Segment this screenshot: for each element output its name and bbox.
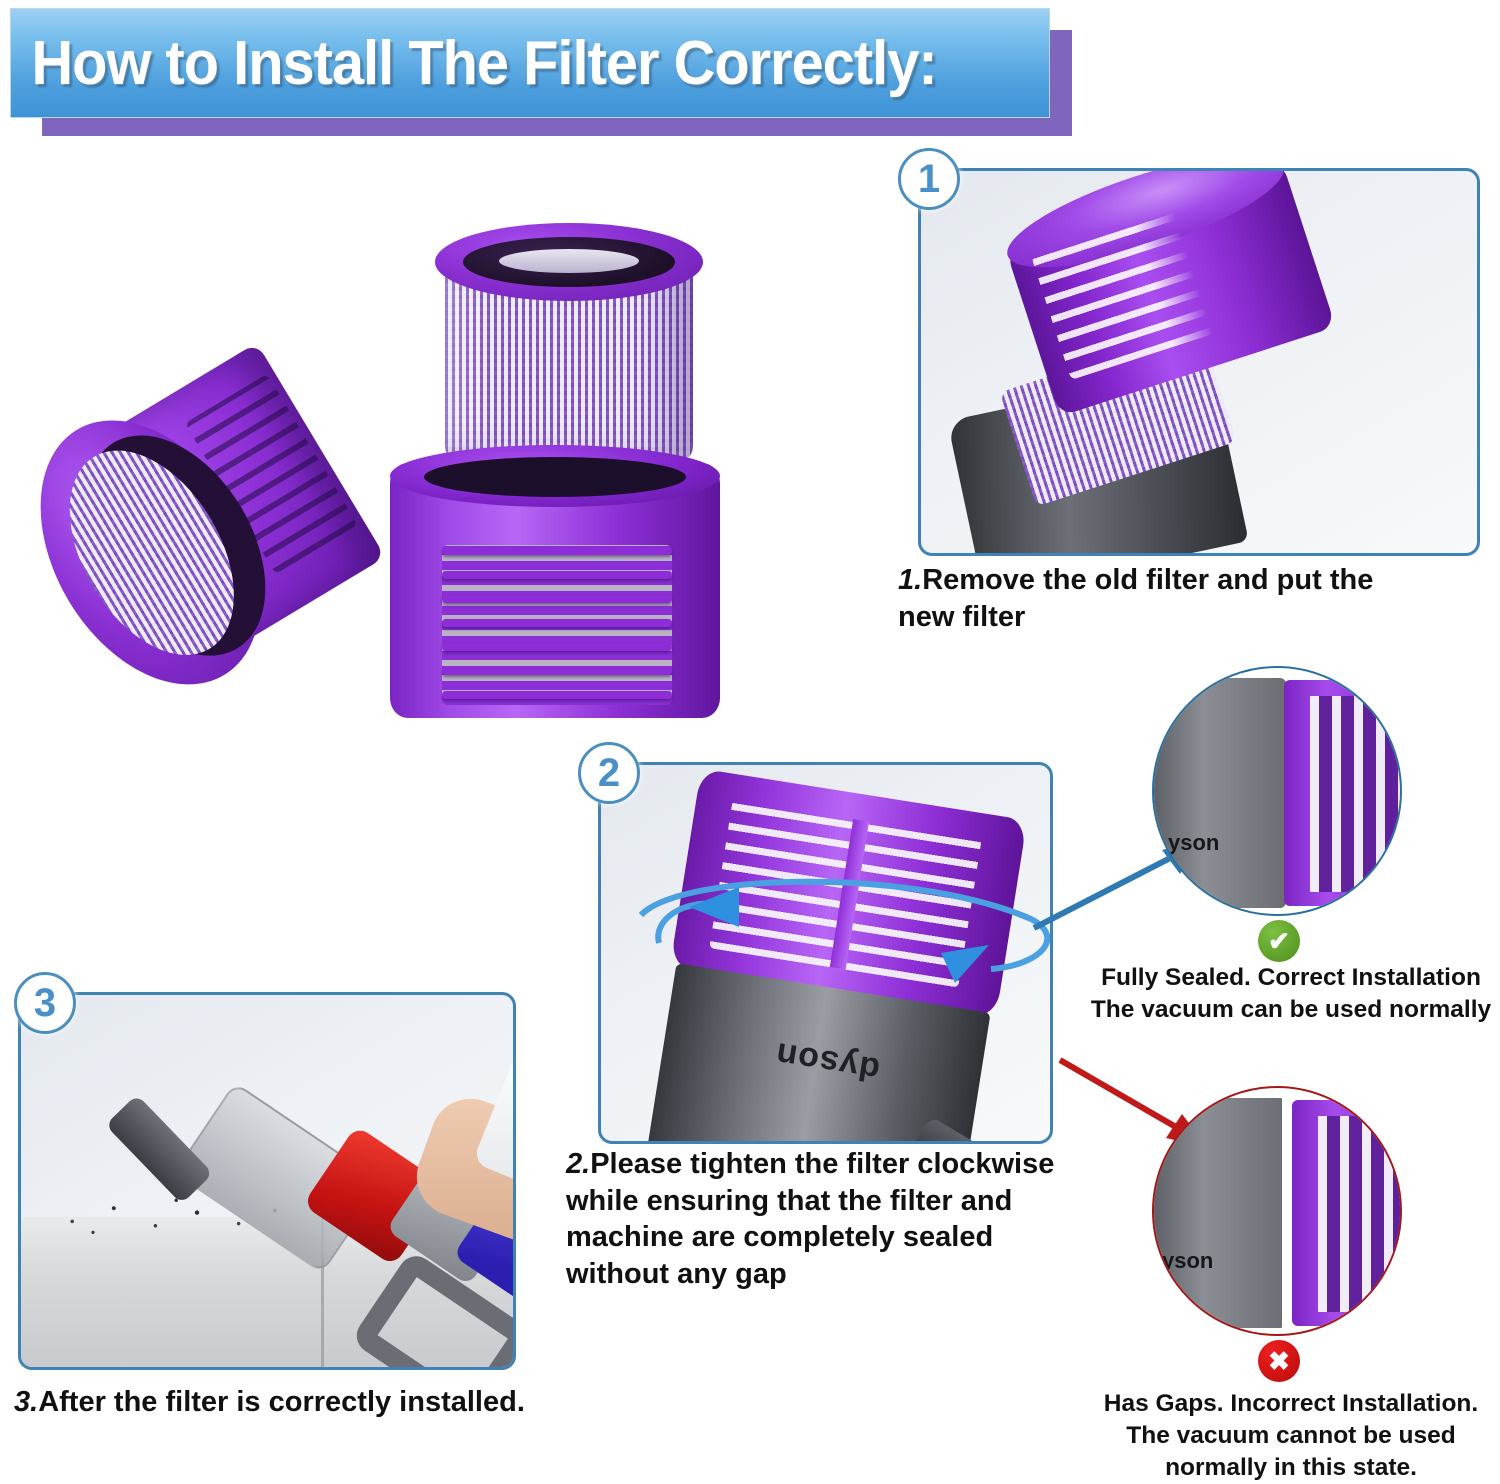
filter-purple-shell xyxy=(1292,1100,1402,1326)
filter-slots xyxy=(1318,1116,1402,1312)
filter-purple-shell xyxy=(1284,680,1402,906)
correct-line-2: The vacuum can be used normally xyxy=(1082,994,1500,1026)
filter-cap-core xyxy=(499,249,639,273)
brand-label-partial: yson xyxy=(1168,830,1219,856)
vacuum-grey-body: yson xyxy=(1152,678,1286,908)
step-2-image-panel: dyson xyxy=(598,762,1053,1144)
header-banner: How to Install The Filter Correctly: xyxy=(10,8,1072,136)
incorrect-installation-detail: yson xyxy=(1152,1086,1402,1336)
step-2-number: 2. xyxy=(566,1148,590,1180)
filter-cap xyxy=(435,223,703,301)
step-3-image-panel xyxy=(18,992,516,1370)
filter-top-inner xyxy=(424,457,686,497)
filter-top-rim xyxy=(390,445,720,507)
filter-cartridge xyxy=(1000,168,1341,431)
filter-cartridge-grille xyxy=(390,445,720,735)
check-icon: ✔ xyxy=(1258,920,1300,962)
step-1-caption: 1.Remove the old filter and put the new … xyxy=(898,562,1418,635)
filter-grille xyxy=(442,545,672,705)
correct-installation-caption: Fully Sealed. Correct Installation The v… xyxy=(1082,962,1500,1026)
step-1-image-panel xyxy=(918,168,1480,556)
filter-slots xyxy=(1310,696,1402,892)
step-2-caption: 2.Please tighten the filter clockwise wh… xyxy=(566,1146,1066,1292)
step-3-caption: 3.After the filter is correctly installe… xyxy=(14,1384,554,1421)
vacuum-grey-body: yson xyxy=(1152,1098,1286,1328)
page-title: How to Install The Filter Correctly: xyxy=(11,28,937,99)
x-icon: ✖ xyxy=(1258,1340,1300,1382)
step-2-text: Please tighten the filter clockwise whil… xyxy=(566,1148,1054,1290)
product-hero-image xyxy=(20,215,780,755)
clockwise-rotation-arrows xyxy=(611,857,1053,1027)
correct-installation-detail: yson xyxy=(1152,666,1402,916)
incorrect-line-1: Has Gaps. Incorrect Installation. xyxy=(1082,1388,1500,1420)
step-badge-1: 1 xyxy=(898,148,960,210)
correct-line-1: Fully Sealed. Correct Installation xyxy=(1082,962,1500,994)
incorrect-line-3: normally in this state. xyxy=(1082,1452,1500,1484)
step-3-text: After the filter is correctly installed. xyxy=(38,1386,525,1418)
incorrect-line-2: The vacuum cannot be used xyxy=(1082,1420,1500,1452)
step-badge-2: 2 xyxy=(578,742,640,804)
step-badge-3: 3 xyxy=(14,972,76,1034)
step-3-number: 3. xyxy=(14,1386,38,1418)
step-1-number: 1. xyxy=(898,564,922,596)
header-bar: How to Install The Filter Correctly: xyxy=(10,8,1050,118)
filter-cartridge-upright xyxy=(435,223,703,473)
incorrect-installation-caption: Has Gaps. Incorrect Installation. The va… xyxy=(1082,1388,1500,1484)
brand-label-partial: yson xyxy=(1162,1248,1213,1274)
step-1-text: Remove the old filter and put the new fi… xyxy=(898,564,1373,633)
gap-indicator xyxy=(1282,1098,1290,1328)
